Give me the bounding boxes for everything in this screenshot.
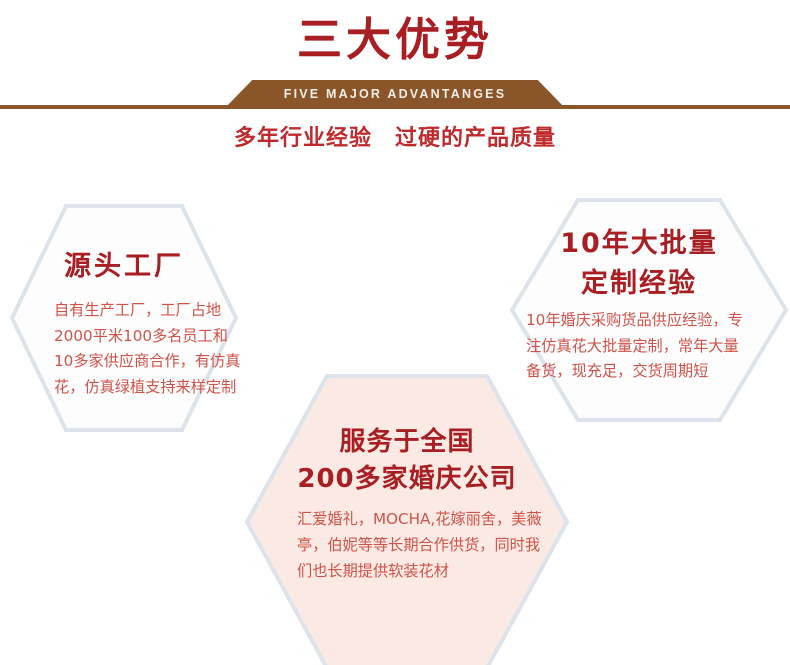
advantage-title: 源头工厂	[8, 250, 240, 284]
advantage-title: 10年大批量 定制经验	[498, 224, 780, 304]
advantage-title: 服务于全国 200多家婚庆公司	[243, 424, 571, 498]
advantage-description: 自有生产工厂，工厂占地2000平米100多名员工和10多家供应商合作，有仿真花，…	[54, 298, 242, 400]
ribbon-label: FIVE MAJOR ADVANTANGES	[225, 80, 565, 108]
header-block: 三大优势 FIVE MAJOR ADVANTANGES 多年行业经验 过硬的产品…	[0, 0, 790, 175]
advantage-card-body: 服务于全国 200多家婚庆公司 汇爱婚礼，MOCHA,花嫁丽舍，美薇亭，伯妮等等…	[243, 372, 571, 665]
advantage-card-source-factory: 源头工厂 自有生产工厂，工厂占地2000平米100多名员工和10多家供应商合作，…	[8, 202, 240, 434]
advantage-card-nationwide-service: 服务于全国 200多家婚庆公司 汇爱婚礼，MOCHA,花嫁丽舍，美薇亭，伯妮等等…	[243, 372, 571, 665]
subtitle: 多年行业经验 过硬的产品质量	[0, 124, 790, 154]
page-title: 三大优势	[0, 12, 790, 68]
advantages-infographic: 三大优势 FIVE MAJOR ADVANTANGES 多年行业经验 过硬的产品…	[0, 0, 790, 665]
advantage-description: 汇爱婚礼，MOCHA,花嫁丽舍，美薇亭，伯妮等等长期合作供货，同时我们也长期提供…	[297, 506, 545, 584]
horizontal-divider-rule	[0, 105, 790, 109]
advantage-card-body: 源头工厂 自有生产工厂，工厂占地2000平米100多名员工和10多家供应商合作，…	[8, 202, 240, 434]
